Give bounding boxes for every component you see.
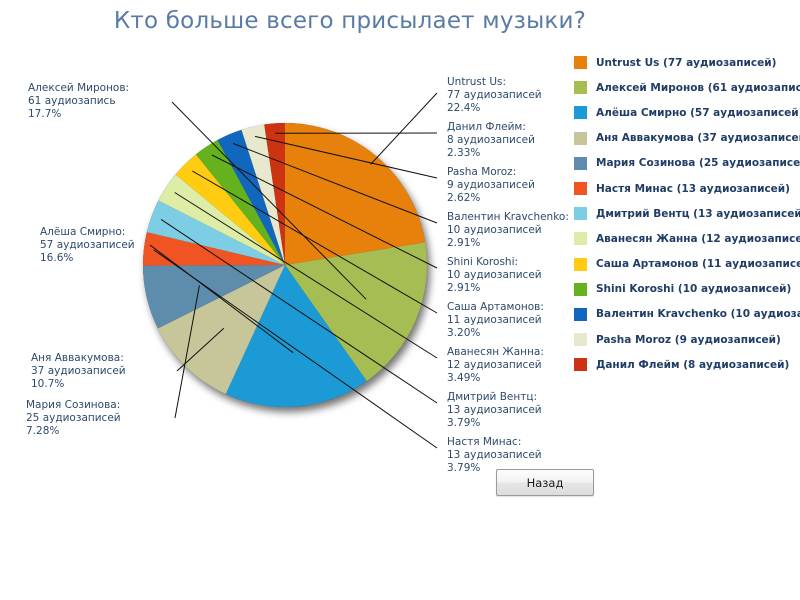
pie-slice[interactable] — [285, 242, 427, 381]
pie-slice[interactable] — [143, 265, 285, 328]
pie-shadow — [143, 123, 427, 407]
callout-percent: 2.33% — [447, 147, 535, 160]
pie-slice[interactable] — [158, 265, 285, 394]
leader-line — [233, 144, 437, 224]
legend-item[interactable]: Саша Артамонов (11 аудиозаписей) — [574, 252, 800, 277]
leader-line — [192, 171, 437, 313]
leader-line — [161, 219, 437, 403]
callout-percent: 3.79% — [447, 417, 542, 430]
leader-line — [212, 155, 437, 268]
callout-shini-koroshi: Shini Koroshi: 10 аудиозаписей 2.91% — [447, 256, 542, 296]
legend-item-label: Саша Артамонов (11 аудиозаписей) — [596, 258, 800, 270]
legend-item-label: Алексей Миронов (61 аудиозапись) — [596, 82, 800, 94]
callout-name: Shini Koroshi: — [447, 256, 542, 269]
legend-swatch-icon — [574, 232, 587, 245]
callout-name: Мария Созинова: — [26, 399, 121, 412]
callout-percent: 3.49% — [447, 372, 544, 385]
callout-value: 37 аудиозаписей — [31, 365, 126, 378]
legend-item-label: Аня Аввакумова (37 аудиозаписей) — [596, 132, 800, 144]
callout-mariya-sozinova: Мария Созинова: 25 аудиозаписей 7.28% — [26, 399, 121, 439]
legend-item[interactable]: Pasha Moroz (9 аудиозаписей) — [574, 327, 800, 352]
legend-item-label: Настя Минас (13 аудиозаписей) — [596, 183, 790, 195]
page-title: Кто больше всего присылает музыки? — [0, 8, 700, 34]
pie-slice[interactable] — [226, 265, 367, 407]
legend-item[interactable]: Дмитрий Вентц (13 аудиозаписей) — [574, 201, 800, 226]
callout-name: Аня Аввакумова: — [31, 352, 126, 365]
legend-item-label: Shini Koroshi (10 аудиозаписей) — [596, 283, 791, 295]
legend-item[interactable]: Мария Созинова (25 аудиозаписей) — [574, 151, 800, 176]
legend-swatch-icon — [574, 106, 587, 119]
pie-slice[interactable] — [159, 174, 285, 265]
legend-item[interactable]: Алексей Миронов (61 аудиозапись) — [574, 75, 800, 100]
leader-line — [177, 328, 224, 371]
legend-swatch-icon — [574, 358, 587, 371]
callout-anya-avvakumova: Аня Аввакумова: 37 аудиозаписей 10.7% — [31, 352, 126, 392]
pie-slice[interactable] — [147, 200, 285, 265]
callout-value: 25 аудиозаписей — [26, 412, 121, 425]
legend-item[interactable]: Алёша Смирно (57 аудиозаписей) — [574, 100, 800, 125]
callout-value: 13 аудиозаписей — [447, 449, 542, 462]
legend-swatch-icon — [574, 207, 587, 220]
callout-name: Настя Минас: — [447, 436, 542, 449]
leader-line — [150, 245, 293, 353]
pie-slice[interactable] — [241, 125, 285, 265]
legend-swatch-icon — [574, 283, 587, 296]
callout-percent: 3.20% — [447, 327, 544, 340]
callout-name: Алексей Миронов: — [28, 82, 129, 95]
callout-alyosha-smirno: Алёша Смирно: 57 аудиозаписей 16.6% — [40, 226, 135, 266]
legend-item-label: Аванесян Жанна (12 аудиозаписей) — [596, 233, 800, 245]
legend-item[interactable]: Untrust Us (77 аудиозаписей) — [574, 50, 800, 75]
callout-value: 10 аудиозаписей — [447, 269, 542, 282]
legend-item-label: Алёша Смирно (57 аудиозаписей) — [596, 107, 800, 119]
legend-item-label: Мария Созинова (25 аудиозаписей) — [596, 157, 800, 169]
pie-slice[interactable] — [285, 123, 425, 265]
callout-name: Саша Артамонов: — [447, 301, 544, 314]
pie-slice[interactable] — [264, 123, 285, 265]
callout-percent: 22.4% — [447, 102, 542, 115]
callout-valentin-kravchenko: Валентин Kravchenko: 10 аудиозаписей 2.9… — [447, 211, 569, 251]
callout-danil-fleym: Данил Флейм: 8 аудиозаписей 2.33% — [447, 121, 535, 161]
callout-aleksey-mironov: Алексей Миронов: 61 аудиозапись 17.7% — [28, 82, 129, 122]
callout-pasha-moroz: Pasha Moroz: 9 аудиозаписей 2.62% — [447, 166, 535, 206]
legend-item-label: Pasha Moroz (9 аудиозаписей) — [596, 334, 781, 346]
pie-slice[interactable] — [143, 232, 285, 266]
callout-percent: 17.7% — [28, 108, 129, 121]
back-button[interactable]: Назад — [496, 469, 594, 496]
legend-item[interactable]: Настя Минас (13 аудиозаписей) — [574, 176, 800, 201]
legend-swatch-icon — [574, 132, 587, 145]
callout-value: 10 аудиозаписей — [447, 224, 569, 237]
legend-item[interactable]: Shini Koroshi (10 аудиозаписей) — [574, 277, 800, 302]
legend-item-label: Untrust Us (77 аудиозаписей) — [596, 57, 776, 69]
callout-value: 61 аудиозапись — [28, 95, 129, 108]
callout-percent: 10.7% — [31, 378, 126, 391]
callout-percent: 2.62% — [447, 192, 535, 205]
legend-item-label: Данил Флейм (8 аудиозаписей) — [596, 359, 789, 371]
callout-name: Валентин Kravchenko: — [447, 211, 569, 224]
callout-value: 12 аудиозаписей — [447, 359, 544, 372]
callout-avanesyan-zhanna: Аванесян Жанна: 12 аудиозаписей 3.49% — [447, 346, 544, 386]
back-button-label: Назад — [527, 476, 564, 490]
legend-swatch-icon — [574, 182, 587, 195]
callout-name: Данил Флейм: — [447, 121, 535, 134]
callout-value: 57 аудиозаписей — [40, 239, 135, 252]
callout-value: 77 аудиозаписей — [447, 89, 542, 102]
legend-swatch-icon — [574, 56, 587, 69]
pie-slice[interactable] — [176, 154, 285, 265]
leader-line — [154, 250, 437, 448]
callout-name: Аванесян Жанна: — [447, 346, 544, 359]
chart-legend: Untrust Us (77 аудиозаписей)Алексей Миро… — [574, 50, 800, 377]
leader-lines — [150, 93, 437, 448]
legend-item[interactable]: Аня Аввакумова (37 аудиозаписей) — [574, 126, 800, 151]
legend-swatch-icon — [574, 258, 587, 271]
leader-line — [175, 193, 437, 359]
callout-value: 9 аудиозаписей — [447, 179, 535, 192]
callout-value: 13 аудиозаписей — [447, 404, 542, 417]
legend-swatch-icon — [574, 308, 587, 321]
callout-dmitriy-ventc: Дмитрий Вентц: 13 аудиозаписей 3.79% — [447, 391, 542, 431]
leader-line — [175, 285, 199, 418]
legend-item[interactable]: Валентин Kravchenko (10 аудиозапис — [574, 302, 800, 327]
callout-value: 8 аудиозаписей — [447, 134, 535, 147]
callout-percent: 16.6% — [40, 252, 135, 265]
chart-page: Кто больше всего присылает музыки? Алекс… — [0, 0, 800, 600]
callout-name: Дмитрий Вентц: — [447, 391, 542, 404]
legend-swatch-icon — [574, 157, 587, 170]
callout-percent: 7.28% — [26, 425, 121, 438]
leader-line — [371, 93, 437, 164]
callout-value: 11 аудиозаписей — [447, 314, 544, 327]
legend-swatch-icon — [574, 81, 587, 94]
pie-slice[interactable] — [218, 130, 285, 265]
callout-untrust-us: Untrust Us: 77 аудиозаписей 22.4% — [447, 76, 542, 116]
callout-sasha-artamonov: Саша Артамонов: 11 аудиозаписей 3.20% — [447, 301, 544, 341]
leader-line — [172, 102, 366, 299]
callout-percent: 2.91% — [447, 237, 569, 250]
leader-line — [255, 136, 437, 178]
callout-percent: 2.91% — [447, 282, 542, 295]
callout-name: Untrust Us: — [447, 76, 542, 89]
callout-name: Алёша Смирно: — [40, 226, 135, 239]
pie-slice[interactable] — [196, 140, 285, 265]
legend-item-label: Валентин Kravchenko (10 аудиозапис — [596, 308, 800, 320]
legend-swatch-icon — [574, 333, 587, 346]
pie-slices — [143, 123, 427, 407]
legend-item-label: Дмитрий Вентц (13 аудиозаписей) — [596, 208, 800, 220]
legend-item[interactable]: Данил Флейм (8 аудиозаписей) — [574, 352, 800, 377]
callout-name: Pasha Moroz: — [447, 166, 535, 179]
legend-item[interactable]: Аванесян Жанна (12 аудиозаписей) — [574, 226, 800, 251]
